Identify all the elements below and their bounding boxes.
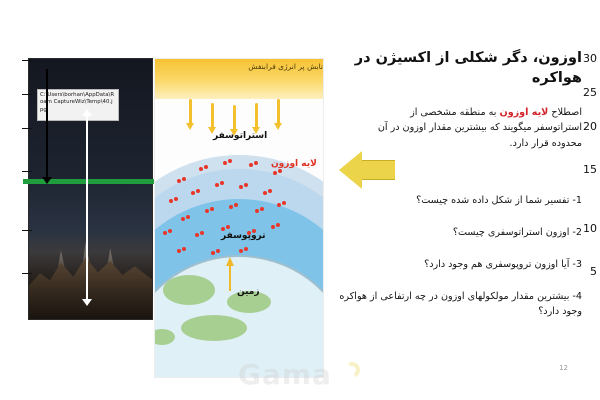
label-earth: زمين xyxy=(237,287,260,297)
uv-radiation-label: تابش پر انرژی فرابنفش xyxy=(155,62,323,71)
definition-paragraph: اصطلاح لايه اوزون به منطقه مشخصی از استر… xyxy=(370,105,582,151)
label-troposphere: تروپوسفر xyxy=(221,231,266,241)
slide-canvas: C:\Users\borhan\AppData\Roam CaptureWiz\… xyxy=(0,0,600,400)
watermark-logo: Gama xyxy=(238,358,362,392)
axis-tickmark xyxy=(22,230,32,231)
landmass xyxy=(154,329,175,345)
landmass xyxy=(163,275,215,305)
axis-tickmark xyxy=(22,171,32,172)
watermark-text: Gama xyxy=(238,358,332,391)
axis-tickmark xyxy=(22,94,32,95)
landmass xyxy=(181,315,247,341)
question-4: 4- بيشترين مقدار مولكولهای اوزون در چه ا… xyxy=(336,290,582,319)
pointer-arrow xyxy=(339,151,395,189)
question-2: 2- اوزون استراتوسفری چيست؟ xyxy=(336,226,582,241)
watermark-swoosh-icon xyxy=(342,360,362,380)
page-title: اوزون، دگر شكلی از اكسيژن در هواكره xyxy=(320,48,582,88)
paragraph-pre: اصطلاح xyxy=(548,107,582,118)
label-ozone-layer: لايه اوزون xyxy=(271,159,317,169)
axis-tickmark xyxy=(22,273,32,274)
question-3: 3- آيا اوزون تروپوسفری هم وجود دارد؟ xyxy=(336,258,582,273)
atmosphere-diagram: تابش پر انرژی فرابنفش xyxy=(154,58,324,378)
emission-arrow-head xyxy=(226,257,234,266)
axis-tickmark xyxy=(22,128,32,129)
question-1: 1- تفسير شما از شكل داده شده چيست؟ xyxy=(336,194,582,209)
paragraph-highlight: لايه اوزون xyxy=(500,107,549,118)
page-number: 12 xyxy=(559,364,568,372)
label-stratosphere: استراتوسفر xyxy=(213,131,267,141)
axis-tickmark xyxy=(22,60,32,61)
emission-arrow-stem xyxy=(229,265,231,291)
uv-rays-group xyxy=(155,93,323,153)
